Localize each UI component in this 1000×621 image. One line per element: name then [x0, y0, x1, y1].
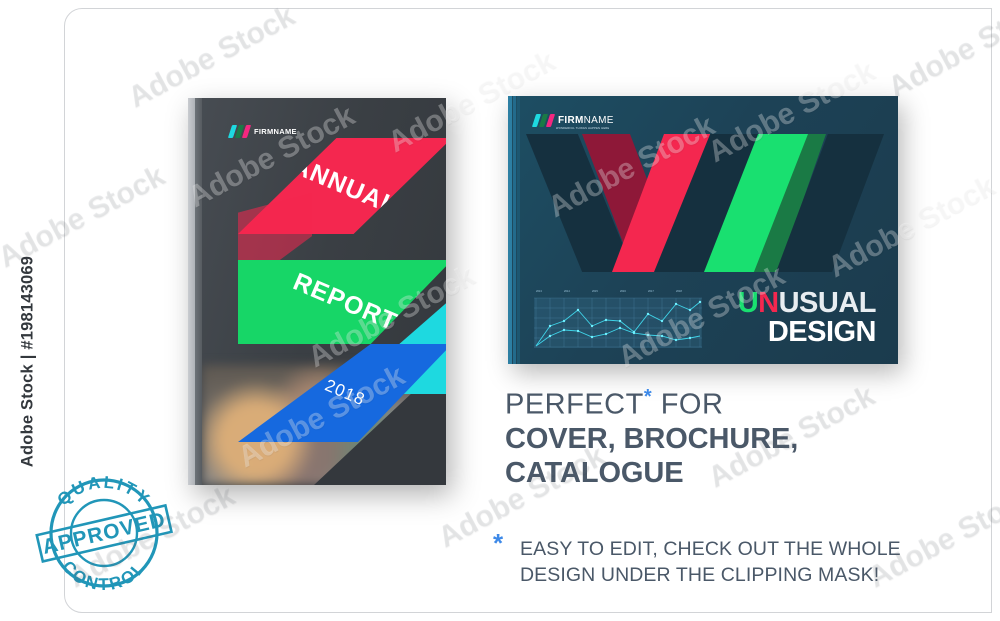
- headline-line-1: PERFECT* FOR: [505, 386, 935, 423]
- logo-text-light: NAME: [584, 115, 614, 126]
- zigzag-graphic: [526, 134, 884, 272]
- chart-svg: [534, 290, 702, 348]
- headline-line-3: CATALOGUE: [505, 457, 935, 491]
- unusual-n: N: [758, 287, 778, 319]
- chart-tick-5: 2018: [676, 290, 682, 293]
- footnote-line-2: DESIGN UNDER THE CLIPPING MASK!: [520, 563, 940, 589]
- chart-tick-4: 2017: [648, 290, 654, 293]
- adobe-stock-id-watermark: Adobe Stock | #198143069: [19, 242, 38, 482]
- unusual-u: U: [738, 287, 758, 319]
- marketing-headline: PERFECT* FOR COVER, BROCHURE, CATALOGUE: [505, 386, 935, 490]
- spine-shadow: [195, 98, 202, 485]
- footnote-line-1: EASY TO EDIT, CHECK OUT THE WHOLE: [520, 537, 940, 563]
- chart-tick-2: 2015: [592, 290, 598, 293]
- stamp-bottom-text: CONTROL: [58, 557, 150, 594]
- logo-text: FIRMNAME: [558, 115, 614, 126]
- svg-text:QUALITY: QUALITY: [53, 473, 154, 510]
- logo-bars-icon: [230, 125, 249, 138]
- asterisk-icon: *: [644, 386, 652, 408]
- line-chart: 2013 2014 2015 2016 2017 2018: [534, 290, 702, 348]
- firmname-logo-left: FIRMNAME: [230, 125, 297, 138]
- spine-stripe-1: [508, 96, 512, 364]
- firmname-logo-right: FIRMNAME: [534, 114, 614, 127]
- spine-highlight: [188, 98, 195, 485]
- chart-tick-0: 2013: [536, 290, 542, 293]
- brochure-right: 2013 2014 2015 2016 2017 2018 UNUSUAL DE…: [508, 96, 898, 364]
- logo-text-bold: FIRM: [558, 115, 584, 126]
- unusual-line: UNUSUAL: [738, 289, 876, 319]
- spine-stripe-3: [517, 96, 520, 364]
- stock-photo-canvas: ANNUAL REPORT 2018 FIRMNAME: [0, 0, 1000, 621]
- logo-text: FIRMNAME: [254, 127, 297, 136]
- stamp-top-text: QUALITY: [53, 473, 154, 510]
- chart-tick-1: 2014: [564, 290, 570, 293]
- svg-text:CONTROL: CONTROL: [58, 557, 150, 594]
- design-line: DESIGN: [738, 318, 876, 348]
- headline-perfect: PERFECT: [505, 389, 644, 421]
- stamp-banner-text: APPROVED: [40, 508, 168, 559]
- chart-tick-3: 2016: [620, 290, 626, 293]
- headline-line-2: COVER, BROCHURE,: [505, 423, 935, 457]
- logo-bars-icon: [534, 114, 553, 127]
- footnote-asterisk-icon: *: [493, 528, 503, 559]
- headline-for: FOR: [652, 389, 723, 421]
- report-text: REPORT: [289, 267, 402, 337]
- unusual-rest: USUAL: [779, 287, 876, 319]
- year-text: 2018: [322, 376, 368, 411]
- quality-control-stamp: QUALITY CONTROL APPROVED: [32, 470, 176, 596]
- spine-stripe-2: [513, 96, 516, 364]
- unusual-design-title: UNUSUAL DESIGN: [738, 289, 876, 348]
- logo-tagline: WONDERFUL THINGS HAPPEN HERE: [556, 127, 609, 130]
- brochure-left: ANNUAL REPORT 2018 FIRMNAME: [188, 98, 446, 485]
- brochure-left-cover: ANNUAL REPORT 2018 FIRMNAME: [202, 98, 446, 485]
- footnote-text: EASY TO EDIT, CHECK OUT THE WHOLE DESIGN…: [520, 537, 940, 588]
